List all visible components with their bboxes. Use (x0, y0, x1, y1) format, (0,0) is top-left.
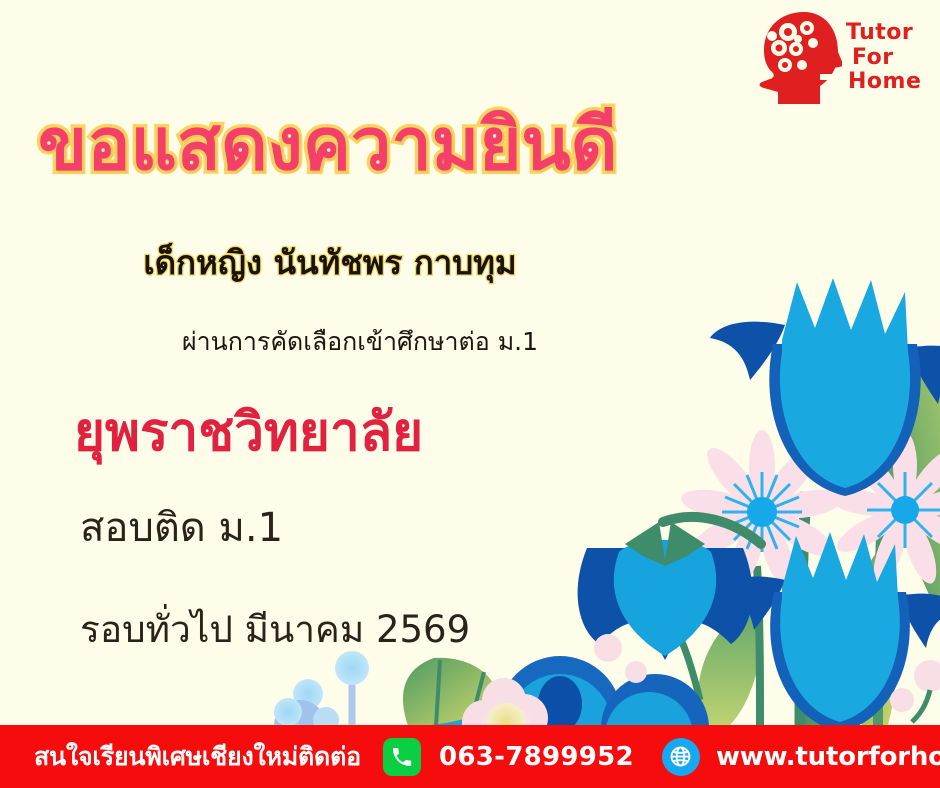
logo-wordmark: Tutor For Home (846, 21, 921, 95)
brand-logo: Tutor For Home (758, 6, 926, 110)
tutor-for-home-head-icon (758, 8, 842, 108)
logo-line-2: For (846, 46, 894, 71)
congratulations-poster: Tutor For Home ขอแสดงความยินดี เด็กหญิง … (0, 0, 940, 788)
logo-line-3: Home (846, 70, 921, 95)
main-content: ขอแสดงความยินดี เด็กหญิง นันทัชพร กาบทุม… (0, 0, 720, 725)
contact-footer-bar: สนใจเรียนพิเศษเชียงใหม่ติดต่อ 063-789995… (0, 725, 940, 788)
school-name: ยุพราชวิทยาลัย (74, 405, 423, 461)
phone-icon[interactable] (383, 738, 421, 776)
student-name: เด็กหญิง นันทัชพร กาบทุม (0, 236, 660, 289)
footer-phone-number[interactable]: 063-7899952 (439, 742, 634, 772)
admission-round: รอบทั่วไป มีนาคม 2569 (80, 600, 470, 659)
footer-website-url[interactable]: www.tutorforhome.net (716, 742, 940, 772)
footer-thai-cta: สนใจเรียนพิเศษเชียงใหม่ติดต่อ (34, 737, 361, 777)
logo-line-1: Tutor (846, 21, 913, 46)
admission-subtitle: ผ่านการคัดเลือกเข้าศึกษาต่อ ม.1 (0, 322, 720, 362)
headline-congratulations: ขอแสดงความยินดี (38, 108, 698, 180)
exam-level: สอบติด ม.1 (80, 495, 283, 559)
globe-icon[interactable] (662, 738, 700, 776)
